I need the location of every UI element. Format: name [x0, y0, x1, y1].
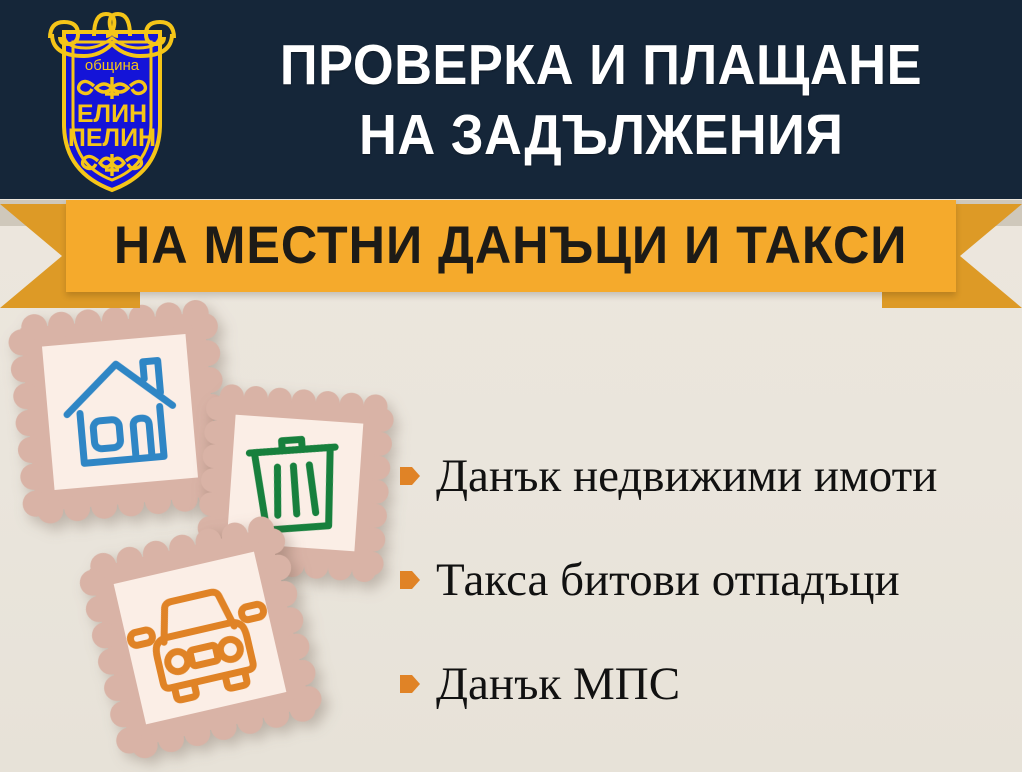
arrow-bullet-icon [400, 673, 420, 695]
arrow-bullet-icon [400, 465, 420, 487]
tax-type-list: Данък недвижими имоти Такса битови отпад… [400, 424, 1015, 736]
municipality-crest-logo: община ЕЛИН ПЕЛИН [38, 4, 186, 196]
list-item[interactable]: Такса битови отпадъци [400, 528, 1015, 632]
page-title-line-2: НА ЗАДЪЛЖЕНИЯ [359, 100, 843, 170]
list-item-label: Данък недвижими имоти [436, 449, 937, 503]
poster-canvas: Данък недвижими имоти Такса битови отпад… [0, 0, 1022, 772]
subtitle-ribbon: НА МЕСТНИ ДАНЪЦИ И ТАКСИ [0, 196, 1022, 308]
page-title-line-1: ПРОВЕРКА И ПЛАЩАНЕ [280, 30, 922, 100]
ribbon-label: НА МЕСТНИ ДАНЪЦИ И ТАКСИ [114, 218, 908, 274]
list-item-label: Данък МПС [436, 657, 680, 711]
ribbon-banner: НА МЕСТНИ ДАНЪЦИ И ТАКСИ [66, 200, 956, 292]
crest-name-line2: ПЕЛИН [68, 124, 156, 152]
list-item[interactable]: Данък МПС [400, 632, 1015, 736]
arrow-bullet-icon [400, 569, 420, 591]
page-title: ПРОВЕРКА И ПЛАЩАНЕ НА ЗАДЪЛЖЕНИЯ [196, 18, 1006, 182]
stamp-card-group [0, 300, 420, 772]
crest-top-label: община [85, 57, 140, 74]
list-item-label: Такса битови отпадъци [436, 553, 900, 607]
list-item[interactable]: Данък недвижими имоти [400, 424, 1015, 528]
